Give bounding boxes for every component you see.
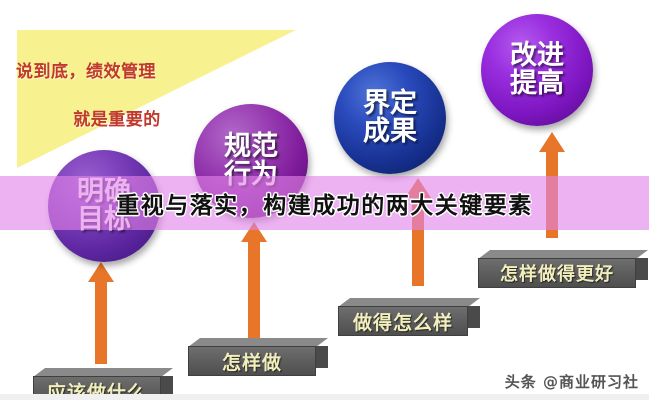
arrow-shaft-1	[95, 280, 107, 364]
box-zenyangzuo: 怎样做	[188, 338, 328, 376]
box-side-face-3	[467, 306, 480, 328]
box-side-face-2	[315, 346, 328, 368]
upward-arrow-2	[239, 222, 269, 340]
box-label-4: 怎样做得更好	[478, 258, 636, 288]
overlay-title-text: 重视与落实，构建成功的两大关键要素	[116, 186, 533, 220]
box-zenyangzuodegenghao: 怎样做得更好	[478, 250, 648, 288]
box-label-3: 做得怎么样	[338, 306, 468, 336]
sphere-gaijin-line-2: 提高	[510, 70, 564, 98]
arrow-head-4	[539, 132, 565, 152]
sphere-jieding-line-2: 成果	[363, 118, 417, 146]
overlay-title-band: 重视与落实，构建成功的两大关键要素	[0, 176, 649, 230]
infographic-canvas: 说到底，绩效管理 就是重要的 沟通。 明确 目标 规范 行为 界定 成果 改进 …	[0, 0, 649, 400]
sphere-gaijin-line-1: 改进	[510, 42, 564, 70]
sphere-jieding-line-1: 界定	[363, 90, 417, 118]
sphere-guifan-line-1: 规范	[224, 133, 278, 161]
sphere-jieding-chengguo: 界定 成果	[334, 62, 446, 174]
box-label-2: 怎样做	[188, 346, 316, 376]
box-side-face-4	[635, 258, 648, 280]
arrow-head-1	[88, 262, 114, 282]
upward-arrow-1	[86, 262, 116, 364]
bottom-strip	[0, 394, 649, 400]
arrow-shaft-2	[248, 240, 260, 340]
yellow-callout-line-1: 说到底，绩效管理	[8, 60, 248, 84]
sphere-gaijin-tigao: 改进 提高	[481, 14, 593, 126]
watermark-text: 头条 @商业研习社	[505, 371, 639, 392]
box-zuode-zenmeyang: 做得怎么样	[338, 298, 480, 336]
